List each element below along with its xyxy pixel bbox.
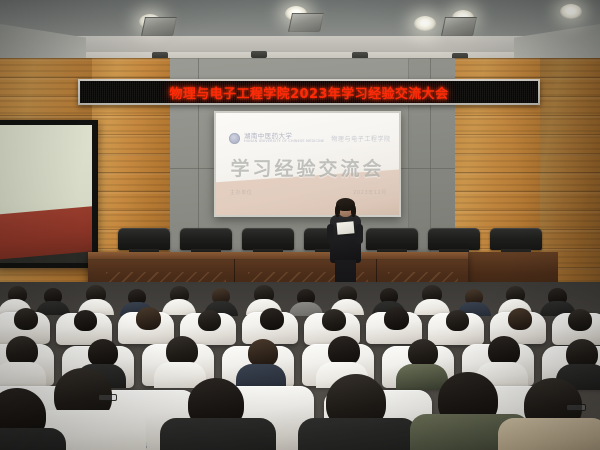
audience-shoulders	[236, 364, 286, 388]
eyeglasses-icon	[566, 404, 586, 411]
led-banner-screen: 物理与电子工程学院2023年学习经验交流大会	[80, 81, 538, 103]
audience-head	[198, 310, 221, 331]
audience-shoulders-foreground	[298, 418, 418, 450]
audience-head	[568, 309, 592, 331]
presenter-hair-side-right	[351, 205, 356, 217]
presidium-chair	[180, 228, 232, 250]
led-banner: 物理与电子工程学院2023年学习经验交流大会	[78, 79, 540, 105]
eyeglasses-icon	[98, 394, 117, 401]
projection-header: 湖南中医药大学 HUNAN UNIVERSITY OF CHINESE MEDI…	[229, 132, 389, 145]
presenter-hair-side-left	[335, 205, 340, 217]
presenter-script-papers	[337, 221, 355, 234]
audience-shoulders-foreground	[160, 418, 276, 450]
ceiling-downlight	[560, 4, 582, 19]
audience-head	[408, 339, 438, 367]
audience-head	[508, 308, 532, 330]
projection-screen: 湖南中医药大学 HUNAN UNIVERSITY OF CHINESE MEDI…	[214, 111, 401, 217]
audience-shoulders	[0, 362, 46, 388]
presidium-chair	[242, 228, 294, 250]
audience-head	[14, 308, 38, 330]
projection-title: 学习经验交流会	[216, 154, 399, 181]
projection-screen-surface: 湖南中医药大学 HUNAN UNIVERSITY OF CHINESE MEDI…	[216, 113, 399, 215]
audience-head	[74, 310, 97, 331]
audience-head	[322, 309, 346, 331]
projection-footer-right: 2023年12月	[353, 189, 387, 196]
wall-display-monitor	[0, 120, 98, 268]
projection-footer-left: 主办单位	[230, 189, 252, 196]
ceiling-downlight	[414, 16, 436, 31]
audience-head	[446, 310, 469, 331]
audience-head	[88, 339, 118, 367]
university-logo-icon	[229, 133, 240, 144]
projection-footer: 主办单位 2023年12月	[230, 189, 387, 196]
presidium-chair	[428, 228, 480, 250]
audience-head	[384, 307, 409, 330]
led-banner-text: 物理与电子工程学院2023年学习经验交流大会	[170, 83, 449, 102]
presenter-arm-right	[356, 224, 363, 244]
audience-head	[260, 308, 284, 330]
presidium-chair	[490, 228, 542, 250]
desk-top-edge	[88, 252, 468, 260]
ceiling-speaker	[251, 51, 267, 58]
ceiling-vent	[288, 13, 324, 32]
audience-shoulders-foreground	[498, 418, 600, 450]
university-name-en: HUNAN UNIVERSITY OF CHINESE MEDICINE	[244, 140, 324, 144]
audience-head	[248, 339, 278, 367]
presidium-chair	[118, 228, 170, 250]
lecture-hall-photo: 物理与电子工程学院2023年学习经验交流大会 湖南中医药大学 HUNAN UNI…	[0, 0, 600, 450]
projection-subtitle: 物理与电子工程学院	[331, 134, 390, 143]
presenter-arm-left	[327, 224, 334, 244]
university-name: 湖南中医药大学 HUNAN UNIVERSITY OF CHINESE MEDI…	[244, 133, 324, 143]
audience-shoulders	[396, 364, 448, 390]
audience-area: 03 04 03 04 05	[0, 282, 600, 450]
audience-head	[136, 307, 161, 330]
wall-display-screen	[0, 125, 92, 263]
audience-shoulders-foreground	[0, 428, 66, 450]
ceiling-vent	[441, 17, 477, 36]
ceiling-vent	[141, 17, 177, 36]
presidium-chair	[366, 228, 418, 250]
